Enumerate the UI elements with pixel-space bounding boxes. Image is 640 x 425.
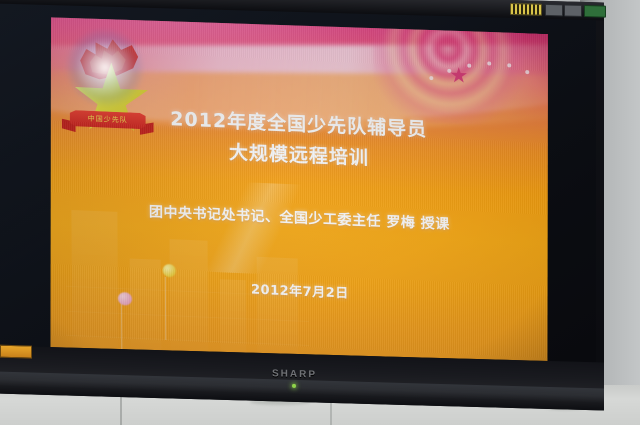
tv-sticker [0, 345, 32, 359]
tv-connector-strip [510, 3, 542, 16]
tv-brand-logo: SHARP [272, 368, 317, 380]
tv-button-label-2[interactable] [564, 4, 582, 17]
tv-green-label [584, 5, 606, 18]
television: 中国少先队 2012年度全国少先队辅导员 大规模远程培训 团中央书记处书记、全国… [0, 0, 604, 411]
tv-button-label-1[interactable] [545, 4, 563, 17]
screen-glare-reflection [66, 28, 144, 108]
photo-scene: 中国少先队 2012年度全国少先队辅导员 大规模远程培训 团中央书记处书记、全国… [0, 0, 640, 425]
tv-screen[interactable]: 中国少先队 2012年度全国少先队辅导员 大规模远程培训 团中央书记处书记、全国… [0, 4, 596, 363]
power-led-indicator [292, 384, 296, 388]
